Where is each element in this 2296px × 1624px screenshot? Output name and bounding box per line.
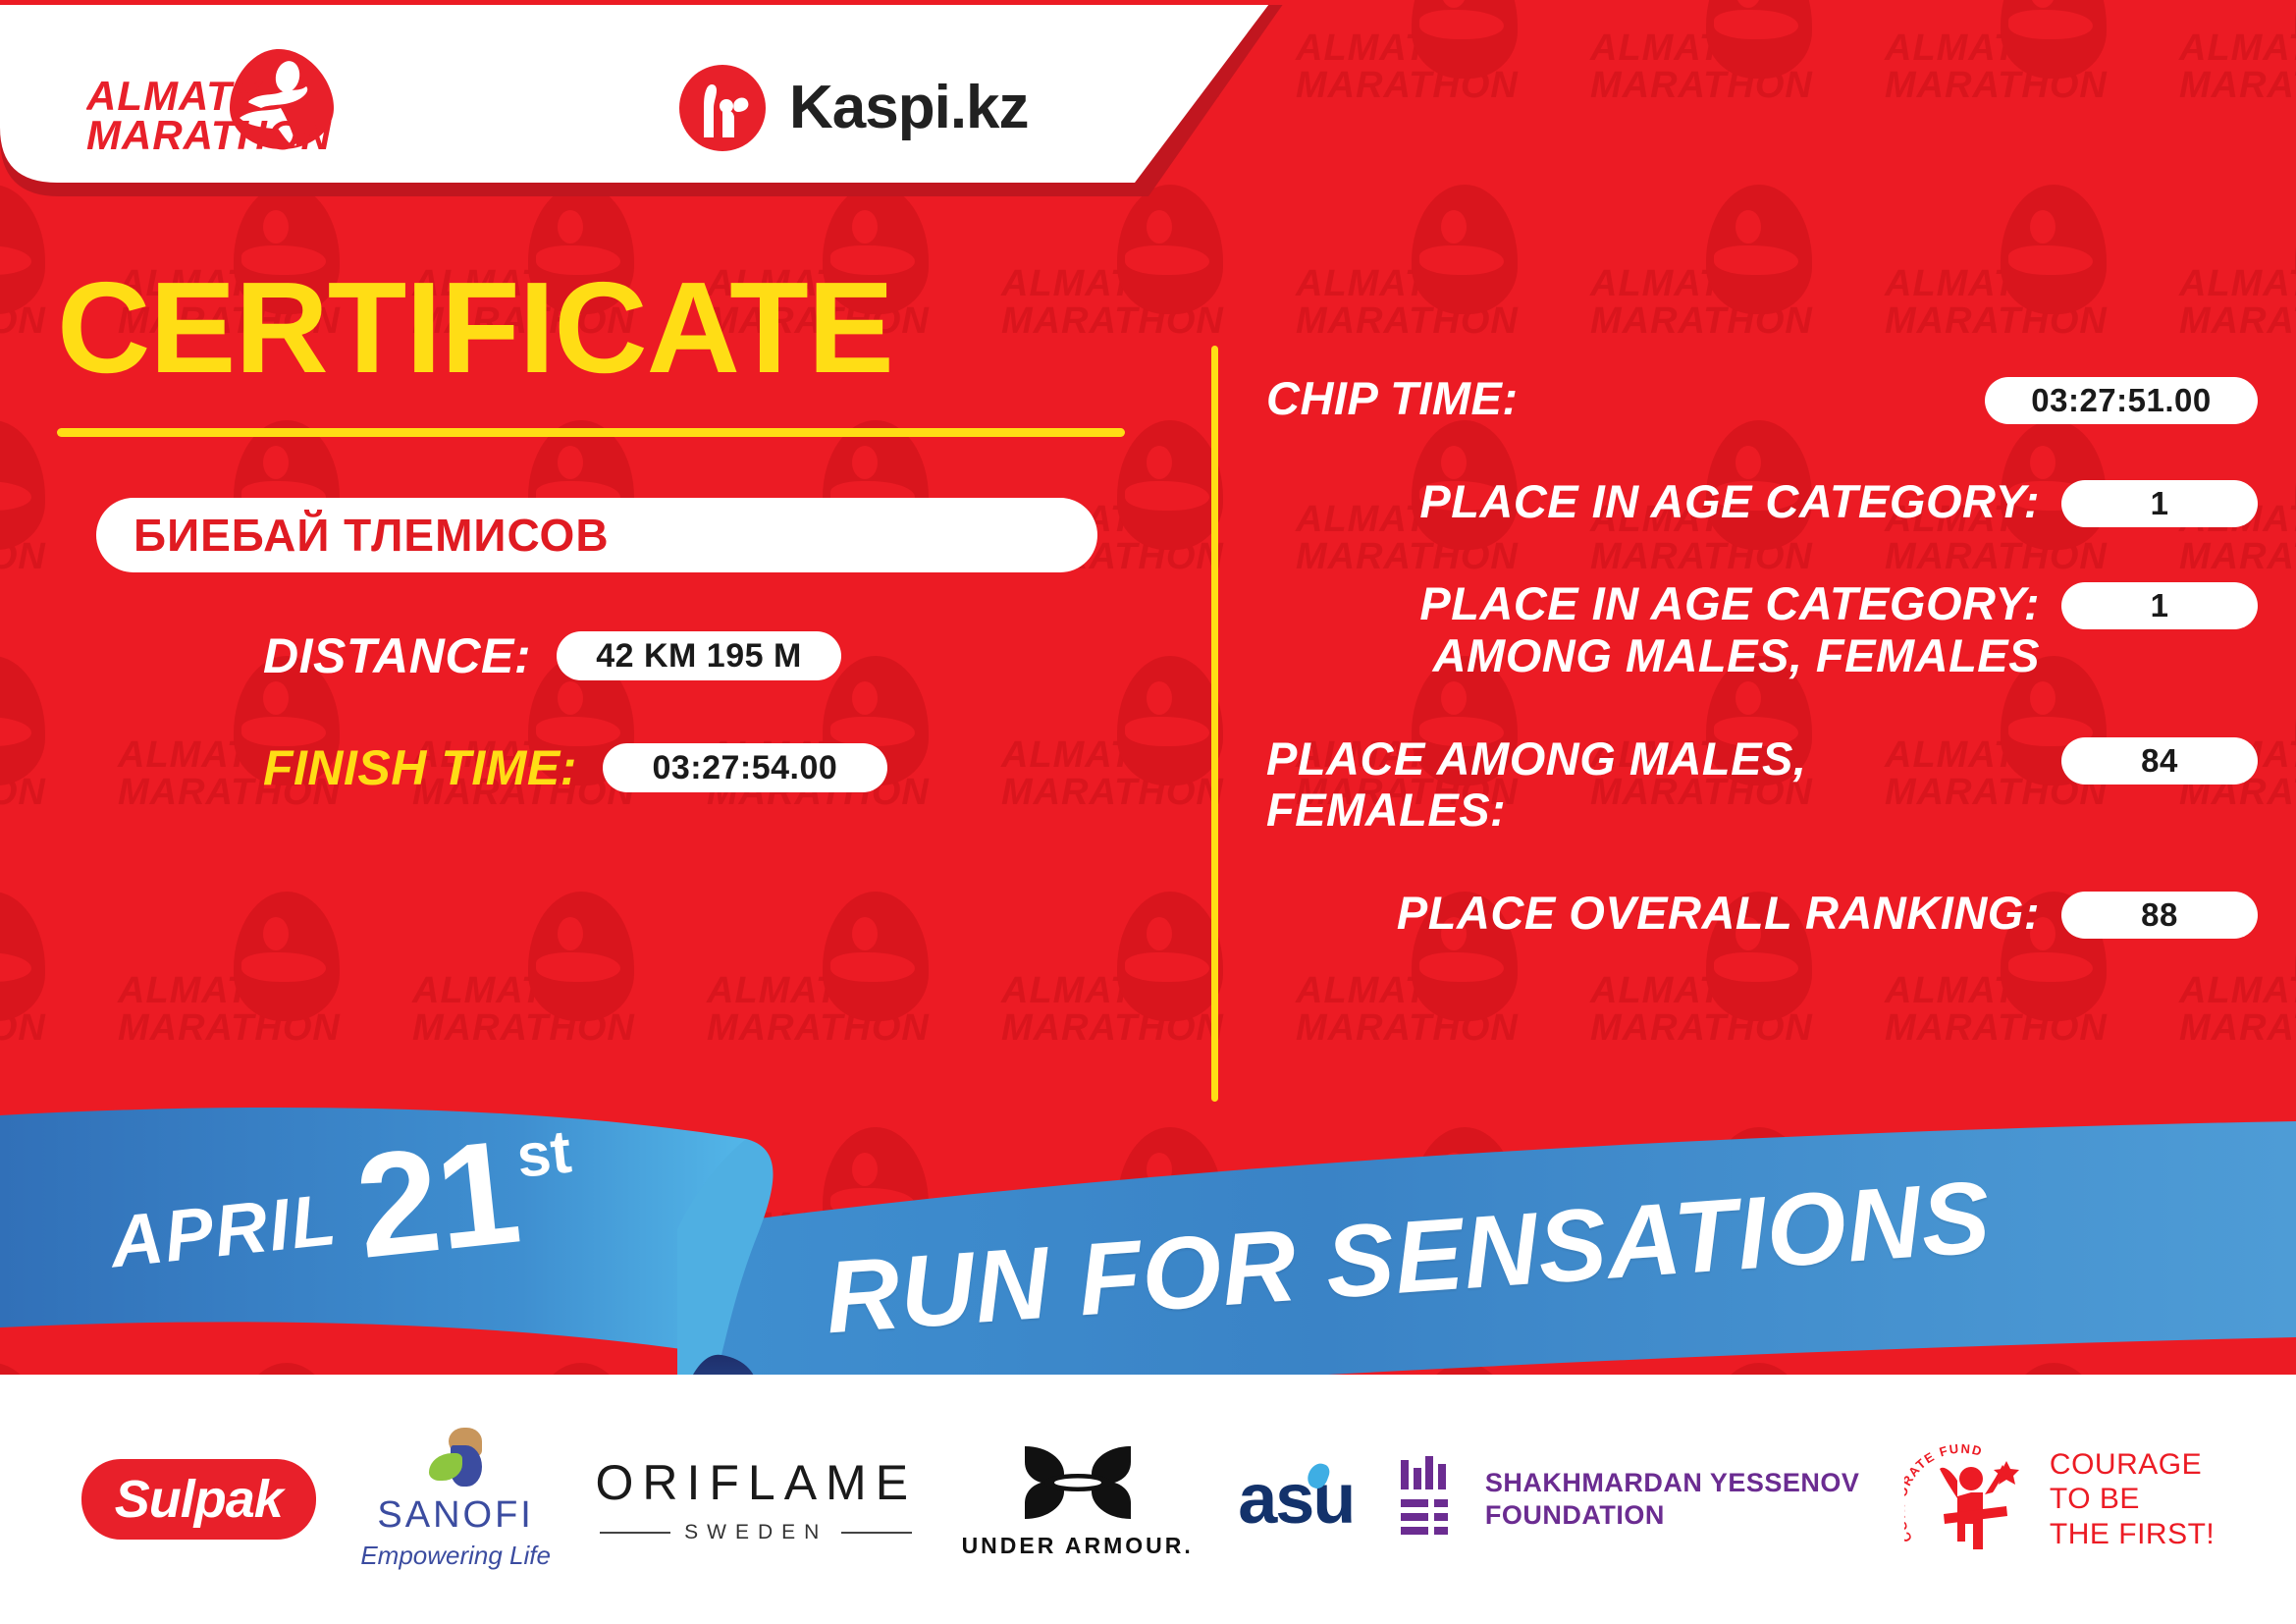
watermark-tile: ALMATYMARATHON xyxy=(1296,0,1590,177)
left-column: CERTIFICATE БИЕБАЙ ТЛЕМИСОВ DISTANCE: 42… xyxy=(0,236,1207,796)
event-day: 21 xyxy=(351,1131,523,1268)
sponsor-oriflame: ORIFLAME SWEDEN xyxy=(595,1454,917,1544)
sponsor-asu: asu xyxy=(1238,1459,1354,1540)
watermark-tile: ALMATYMARATHON xyxy=(0,884,118,1119)
distance-value: 42 KM 195 M xyxy=(596,637,802,676)
oriflame-label: ORIFLAME xyxy=(595,1454,917,1511)
vertical-divider xyxy=(1211,346,1218,1102)
kaspi-people-circle-icon xyxy=(677,63,768,153)
oriflame-sub-label: SWEDEN xyxy=(684,1521,828,1544)
distance-label: DISTANCE: xyxy=(263,627,531,684)
watermark-runner-drop-icon xyxy=(1117,892,1223,1021)
place-among-gender-row: PLACE AMONG MALES, FEMALES: 84 xyxy=(1266,733,2258,837)
watermark-line1: ALMATY xyxy=(2179,263,2296,305)
sponsor-courage-to-be-the-first: CORPORATE FUND COURAGE TO BE THE FIRST! xyxy=(1904,1439,2215,1559)
sulpak-label: Sulpak xyxy=(115,1470,283,1529)
courage-line1: COURAGE xyxy=(2050,1447,2215,1482)
event-day-suffix: st xyxy=(513,1116,574,1191)
label-line-1: PLACE IN AGE CATEGORY: xyxy=(1266,578,2040,630)
watermark-runner-drop-icon xyxy=(1412,185,1518,314)
athlete-name-field: БИЕБАЙ ТЛЕМИСОВ xyxy=(96,498,1097,572)
sponsor-under-armour: UNDER ARMOUR. xyxy=(962,1440,1194,1559)
label-line-1: PLACE AMONG MALES, xyxy=(1266,733,2040,785)
sanofi-mark-icon xyxy=(421,1428,490,1489)
label-line-2: FEMALES: xyxy=(1266,785,2040,837)
courage-line2: TO BE xyxy=(2050,1482,2215,1516)
place-age-category-value-pill: 1 xyxy=(2061,480,2258,527)
place-overall-ranking-row: PLACE OVERALL RANKING: 88 xyxy=(1266,888,2258,940)
courage-text: COURAGE TO BE THE FIRST! xyxy=(2050,1447,2215,1551)
kaspi-logo: Kaspi.kz xyxy=(677,61,1070,155)
asu-wordmark: asu xyxy=(1238,1460,1354,1539)
finish-time-value: 03:27:54.00 xyxy=(652,749,837,787)
yessenov-foundation-text: SHAKHMARDAN YESSENOV FOUNDATION xyxy=(1485,1467,1860,1532)
watermark-tile: ALMATYMARATHON xyxy=(412,884,707,1119)
sponsor-sulpak: Sulpak xyxy=(81,1459,316,1540)
watermark-line2: MARATHON xyxy=(2179,300,2296,343)
almaty-marathon-logo: ALMATY MARATHON xyxy=(86,47,400,155)
place-overall-ranking-value-pill: 88 xyxy=(2061,892,2258,939)
divider-line xyxy=(841,1532,912,1534)
watermark-line2: MARATHON xyxy=(2179,65,2296,107)
place-among-gender-label: PLACE AMONG MALES, FEMALES: xyxy=(1266,733,2040,837)
kaspi-wordmark: Kaspi.kz xyxy=(789,78,1029,138)
courage-line3: THE FIRST! xyxy=(2050,1517,2215,1551)
almaty-logo-line2: MARATHON xyxy=(86,112,333,157)
sulpak-badge: Sulpak xyxy=(81,1459,316,1540)
oriflame-subline: SWEDEN xyxy=(600,1521,912,1544)
place-age-category-row: PLACE IN AGE CATEGORY: 1 xyxy=(1266,476,2258,528)
watermark-runner-drop-icon xyxy=(823,892,929,1021)
place-among-gender-value-pill: 84 xyxy=(2061,737,2258,785)
finish-time-row: FINISH TIME: 03:27:54.00 xyxy=(263,739,1207,796)
page-title: CERTIFICATE xyxy=(57,263,1207,393)
watermark-tile: ALMATYMARATHON xyxy=(118,884,412,1119)
watermark-tile: ALMATYMARATHON xyxy=(2179,0,2296,177)
watermark-line2: MARATHON xyxy=(2179,1007,2296,1050)
distance-row: DISTANCE: 42 KM 195 M xyxy=(263,627,1207,684)
watermark-runner-drop-icon xyxy=(2001,185,2107,314)
chip-time-label: CHIP TIME: xyxy=(1266,373,1963,425)
watermark-line1: ALMATY xyxy=(2179,27,2296,70)
finish-time-value-pill: 03:27:54.00 xyxy=(603,743,887,792)
yessenov-foundation-mark-icon xyxy=(1399,1456,1460,1543)
event-month: APRIL xyxy=(106,1177,342,1284)
place-overall-ranking-label: PLACE OVERALL RANKING: xyxy=(1266,888,2040,940)
chip-time-row: CHIP TIME: 03:27:51.00 xyxy=(1266,373,2258,425)
place-age-category-gender-label: PLACE IN AGE CATEGORY: AMONG MALES, FEMA… xyxy=(1266,578,2040,681)
finish-time-label: FINISH TIME: xyxy=(263,739,577,796)
place-age-category-label: PLACE IN AGE CATEGORY: xyxy=(1266,476,2040,528)
sanofi-label: SANOFI xyxy=(377,1494,533,1537)
title-underline xyxy=(57,428,1125,437)
place-age-category-gender-row: PLACE IN AGE CATEGORY: AMONG MALES, FEMA… xyxy=(1266,578,2258,681)
watermark-runner-drop-icon xyxy=(0,892,45,1021)
athlete-name-value: БИЕБАЙ ТЛЕМИСОВ xyxy=(133,509,610,562)
asu-label: asu xyxy=(1238,1459,1354,1540)
watermark-tile: ALMATYMARATHON xyxy=(1885,0,2179,177)
sponsor-bar: Sulpak SANOFI Empowering Life ORIFLAME S… xyxy=(0,1375,2296,1624)
sponsor-sanofi: SANOFI Empowering Life xyxy=(360,1428,551,1571)
yessenov-line1: SHAKHMARDAN YESSENOV xyxy=(1485,1467,1860,1499)
under-armour-logo-icon xyxy=(1015,1440,1141,1525)
right-column: CHIP TIME: 03:27:51.00 PLACE IN AGE CATE… xyxy=(1266,373,2258,990)
place-age-category-value: 1 xyxy=(2151,485,2169,522)
watermark-tile: ALMATYMARATHON xyxy=(1590,0,1885,177)
place-age-category-gender-value-pill: 1 xyxy=(2061,582,2258,629)
chip-time-value-pill: 03:27:51.00 xyxy=(1985,377,2258,424)
sponsor-shakhmardan-yessenov-foundation: SHAKHMARDAN YESSENOV FOUNDATION xyxy=(1399,1456,1860,1543)
watermark-runner-drop-icon xyxy=(1706,185,1812,314)
place-among-gender-value: 84 xyxy=(2141,742,2178,780)
watermark-runner-drop-icon xyxy=(528,892,634,1021)
watermark-tile: ALMATYMARATHON xyxy=(1001,884,1296,1119)
chip-time-value: 03:27:51.00 xyxy=(2031,382,2211,419)
under-armour-label: UNDER ARMOUR. xyxy=(962,1533,1194,1559)
yessenov-line2: FOUNDATION xyxy=(1485,1499,1860,1532)
watermark-runner-drop-icon xyxy=(234,892,340,1021)
label-line-2: AMONG MALES, FEMALES xyxy=(1266,630,2040,682)
watermark-tile: ALMATYMARATHON xyxy=(707,884,1001,1119)
courage-mark-icon: CORPORATE FUND xyxy=(1904,1439,2034,1559)
divider-line xyxy=(600,1532,670,1534)
place-age-category-gender-value: 1 xyxy=(2151,587,2169,624)
place-overall-ranking-value: 88 xyxy=(2141,896,2178,934)
sanofi-tagline: Empowering Life xyxy=(360,1541,551,1571)
distance-value-pill: 42 KM 195 M xyxy=(557,631,841,680)
